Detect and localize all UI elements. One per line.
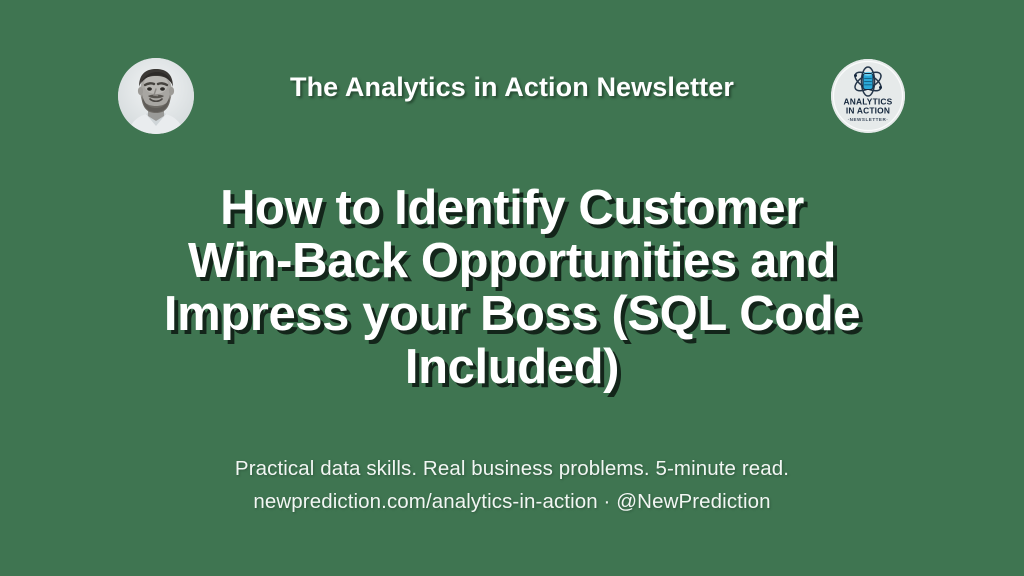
- article-title-line-3: Impress your Boss (SQL Code: [92, 288, 932, 341]
- footer-links[interactable]: newprediction.com/analytics-in-action · …: [0, 485, 1024, 518]
- footer: Practical data skills. Real business pro…: [0, 452, 1024, 518]
- newsletter-logo-badge: ANALYTICS IN ACTION ·NEWSLETTER·: [831, 59, 905, 133]
- article-title-line-1: How to Identify Customer: [92, 182, 932, 235]
- footer-tagline: Practical data skills. Real business pro…: [0, 452, 1024, 485]
- analytics-in-action-logo-icon: ANALYTICS IN ACTION ·NEWSLETTER·: [831, 59, 905, 133]
- header-band: The Analytics in Action Newsletter: [0, 58, 1024, 138]
- article-title-line-2: Win-Back Opportunities and: [92, 235, 932, 288]
- logo-line-in-action: IN ACTION: [846, 105, 890, 115]
- database-cylinder-icon: [863, 72, 873, 90]
- article-title-line-4: Included): [92, 341, 932, 394]
- article-title: How to Identify Customer Win-Back Opport…: [92, 182, 932, 394]
- newsletter-social-card: The Analytics in Action Newsletter: [0, 0, 1024, 576]
- logo-line-newsletter: ·NEWSLETTER·: [848, 117, 889, 122]
